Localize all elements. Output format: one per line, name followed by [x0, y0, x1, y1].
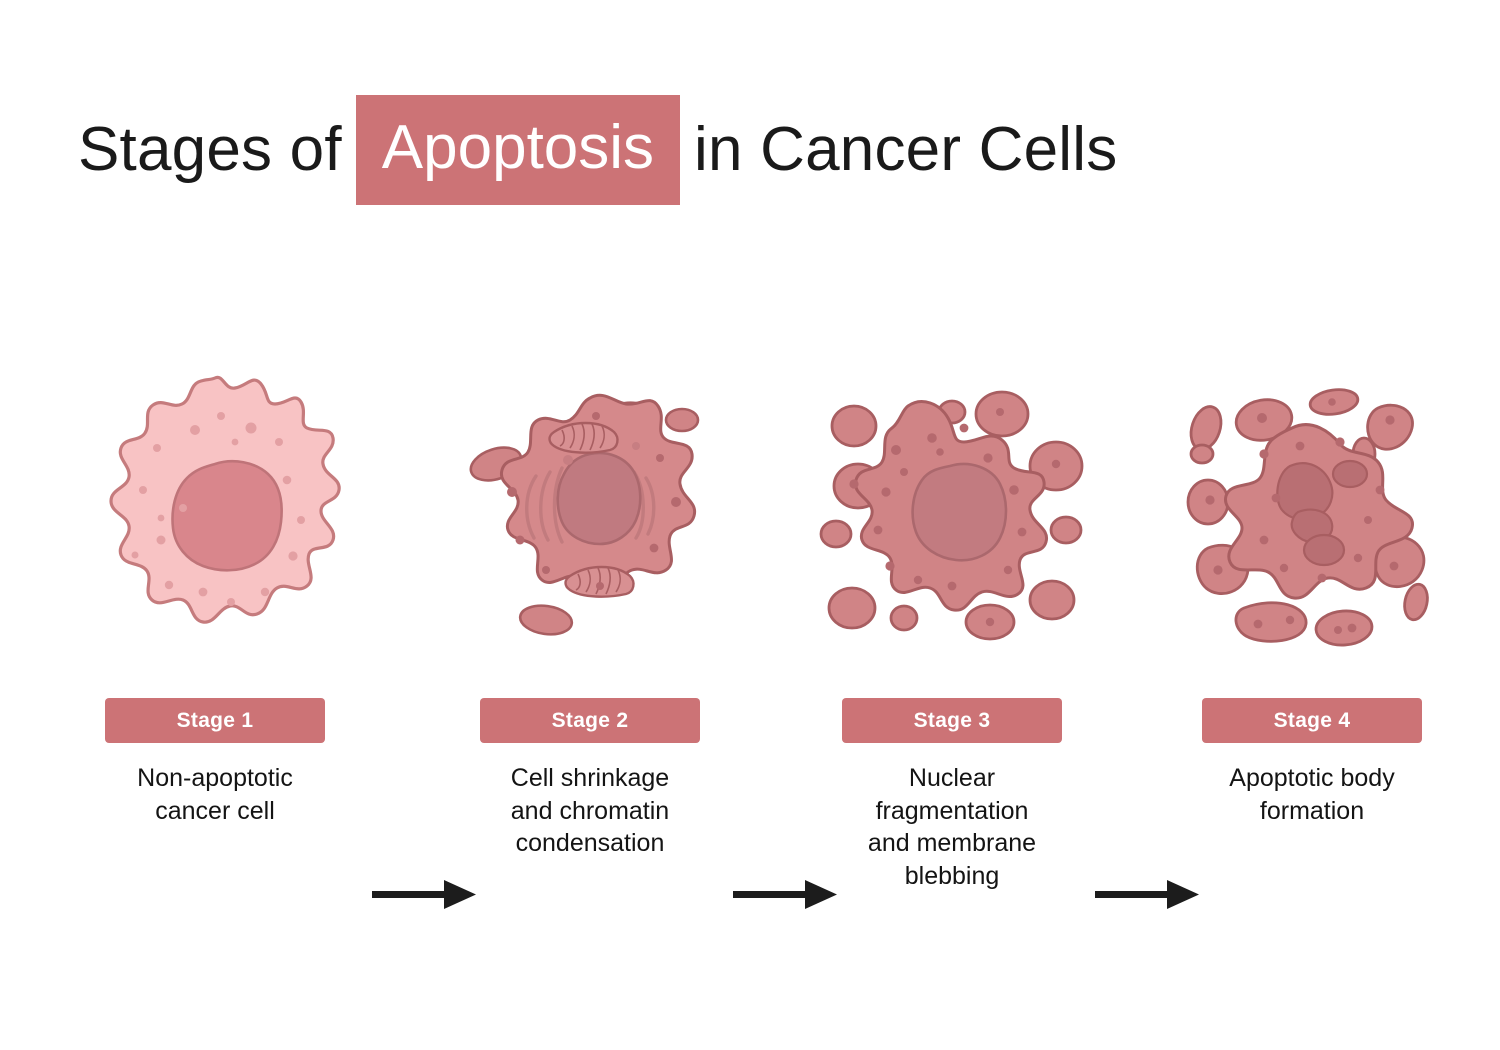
- cancer-cell-intact-icon: [45, 370, 385, 660]
- stage-column-3: Stage 3 Nuclear fragmentation and membra…: [782, 370, 1122, 930]
- apoptotic-bodies-icon: [1142, 370, 1482, 660]
- title-after: in Cancer Cells: [694, 119, 1117, 181]
- membrane-blebbing-icon: [782, 370, 1122, 660]
- title-highlight-apoptosis: Apoptosis: [356, 95, 680, 205]
- stage-badge-3[interactable]: Stage 3: [842, 698, 1062, 743]
- progression-arrow-3-icon: [1095, 870, 1205, 920]
- page-title: Stages of Apoptosis in Cancer Cells: [78, 92, 1117, 207]
- progression-arrow-2-icon: [733, 870, 843, 920]
- stage-caption-2: Cell shrinkage and chromatin condensatio…: [430, 762, 750, 860]
- stage-column-4: Stage 4 Apoptotic body formation: [1142, 370, 1482, 930]
- cell-shrinkage-icon: [420, 370, 760, 660]
- stages-row: Stage 1 Non-apoptotic cancer cell: [0, 370, 1500, 930]
- progression-arrow-1-icon: [372, 870, 482, 920]
- stage-badge-1[interactable]: Stage 1: [105, 698, 325, 743]
- stage-column-1: Stage 1 Non-apoptotic cancer cell: [45, 370, 385, 930]
- stage-caption-1: Non-apoptotic cancer cell: [55, 762, 375, 827]
- title-before: Stages of: [78, 119, 342, 181]
- stage-badge-4[interactable]: Stage 4: [1202, 698, 1422, 743]
- stage-caption-4: Apoptotic body formation: [1152, 762, 1472, 827]
- stage-badge-2[interactable]: Stage 2: [480, 698, 700, 743]
- stage-column-2: Stage 2 Cell shrinkage and chromatin con…: [420, 370, 760, 930]
